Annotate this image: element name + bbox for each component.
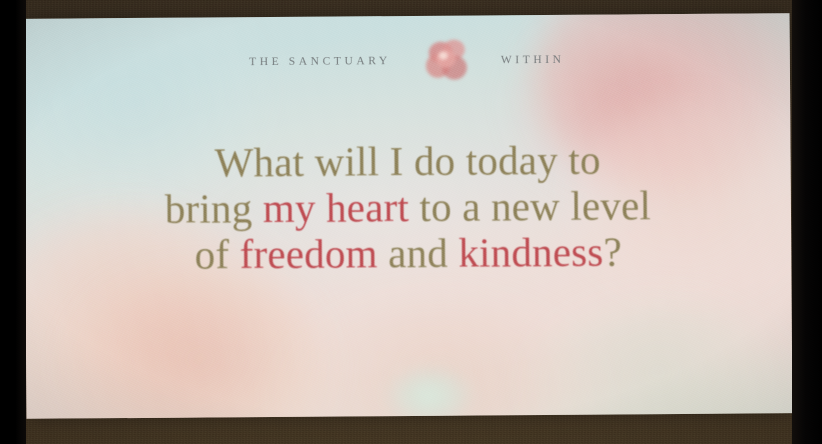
question-segment-3-1: of — [194, 231, 239, 277]
question-segment-2-2: my heart — [263, 184, 410, 231]
question-segment-3-4: kindness — [458, 229, 603, 276]
slide-canvas: THE SANCTUARY WITHIN What will I do toda… — [24, 13, 793, 419]
question-segment-3-3: and — [377, 230, 458, 277]
right-black-border — [792, 0, 822, 444]
left-black-border — [0, 0, 26, 444]
question-line-1: What will I do today to — [24, 135, 793, 187]
question-segment-1-1: What will I do today to — [214, 137, 600, 186]
question-line-2: bring my heart to a new level — [24, 181, 793, 233]
slide-content: THE SANCTUARY WITHIN What will I do toda… — [24, 13, 793, 419]
question-segment-2-1: bring — [165, 185, 263, 232]
brand-word-left: THE SANCTUARY — [249, 55, 391, 68]
brand-word-right: WITHIN — [501, 54, 565, 66]
question-segment-2-3: to a new level — [409, 182, 651, 230]
presentation-slide: THE SANCTUARY WITHIN What will I do toda… — [24, 13, 793, 419]
rose-icon — [421, 38, 473, 84]
question-text: What will I do today tobring my heart to… — [24, 135, 793, 279]
projected-slide-photo: THE SANCTUARY WITHIN What will I do toda… — [0, 0, 822, 444]
question-line-3: of freedom and kindness? — [24, 227, 793, 279]
brand-header: THE SANCTUARY WITHIN — [24, 35, 793, 87]
question-segment-3-2: freedom — [239, 230, 377, 277]
question-segment-3-5: ? — [603, 228, 622, 274]
